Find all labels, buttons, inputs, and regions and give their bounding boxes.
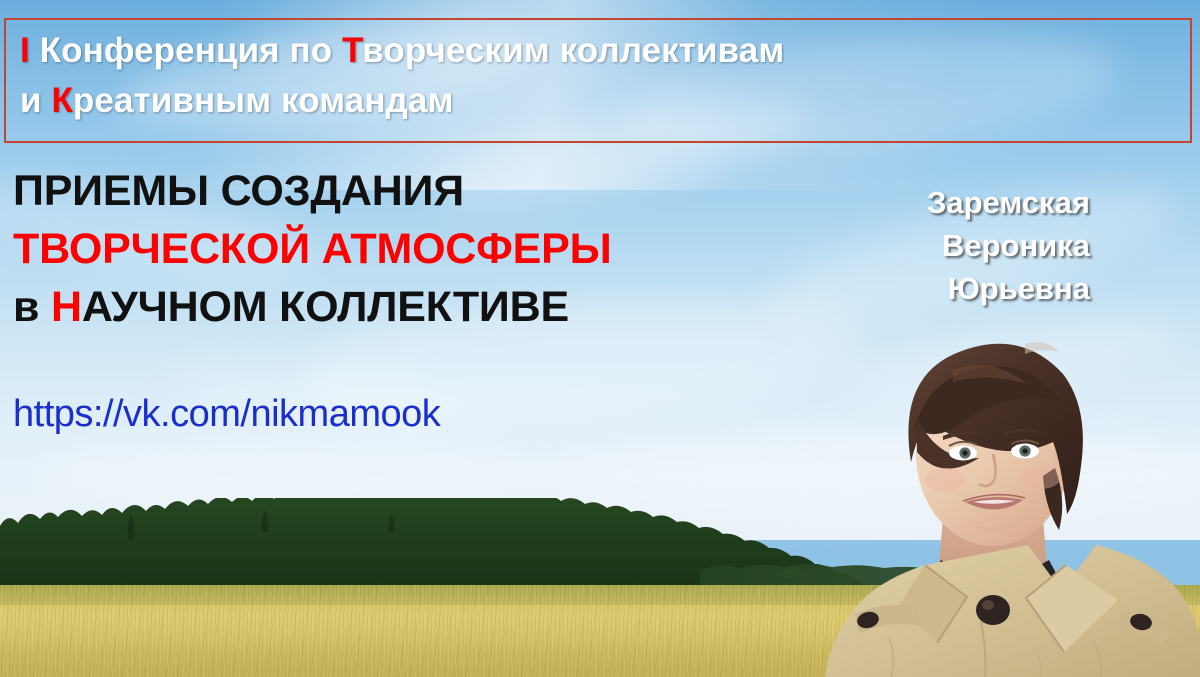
speaker-name: Заремская Вероника Юрьевна: [927, 181, 1090, 310]
title-line-3-rest: АУЧНОМ КОЛЛЕКТИВЕ: [82, 283, 569, 331]
main-title: ПРИЕМЫ СОЗДАНИЯ ТВОРЧЕСКОЙ АТМОСФЕРЫ в Н…: [13, 162, 813, 336]
title-line-3-prefix: в: [13, 283, 51, 331]
conference-banner: I Конференция по Творческим коллективам …: [4, 18, 1192, 143]
title-line-3: в НАУЧНОМ КОЛЛЕКТИВЕ: [13, 278, 813, 336]
title-accent-letter-n: Н: [51, 283, 82, 331]
title-line-1: ПРИЕМЫ СОЗДАНИЯ: [13, 162, 813, 220]
speaker-last-name: Заремская: [927, 181, 1090, 224]
speaker-patronymic: Юрьевна: [927, 267, 1090, 310]
conference-banner-text: I Конференция по Творческим коллективам …: [20, 26, 1170, 126]
banner-line-2: и Креативным командам: [20, 76, 1170, 126]
banner-accent-roman-one: I: [20, 31, 30, 70]
title-line-2: ТВОРЧЕСКОЙ АТМОСФЕРЫ: [13, 220, 813, 278]
banner-accent-letter-t: Т: [342, 31, 362, 70]
banner-line-1-rest-2: ворческим коллективам: [362, 31, 784, 70]
banner-line-1: I Конференция по Творческим коллективам: [20, 26, 1170, 76]
banner-line-2-prefix: и: [20, 81, 51, 120]
presenter-photo: [793, 322, 1200, 677]
vk-profile-link[interactable]: https://vk.com/nikmamook: [13, 393, 440, 436]
speaker-first-name: Вероника: [927, 224, 1090, 267]
banner-line-1-rest: Конференция по: [30, 31, 342, 70]
conference-title-slide: I Конференция по Творческим коллективам …: [0, 0, 1200, 677]
banner-line-2-rest: реативным командам: [73, 81, 454, 120]
banner-accent-letter-k: К: [51, 81, 72, 120]
